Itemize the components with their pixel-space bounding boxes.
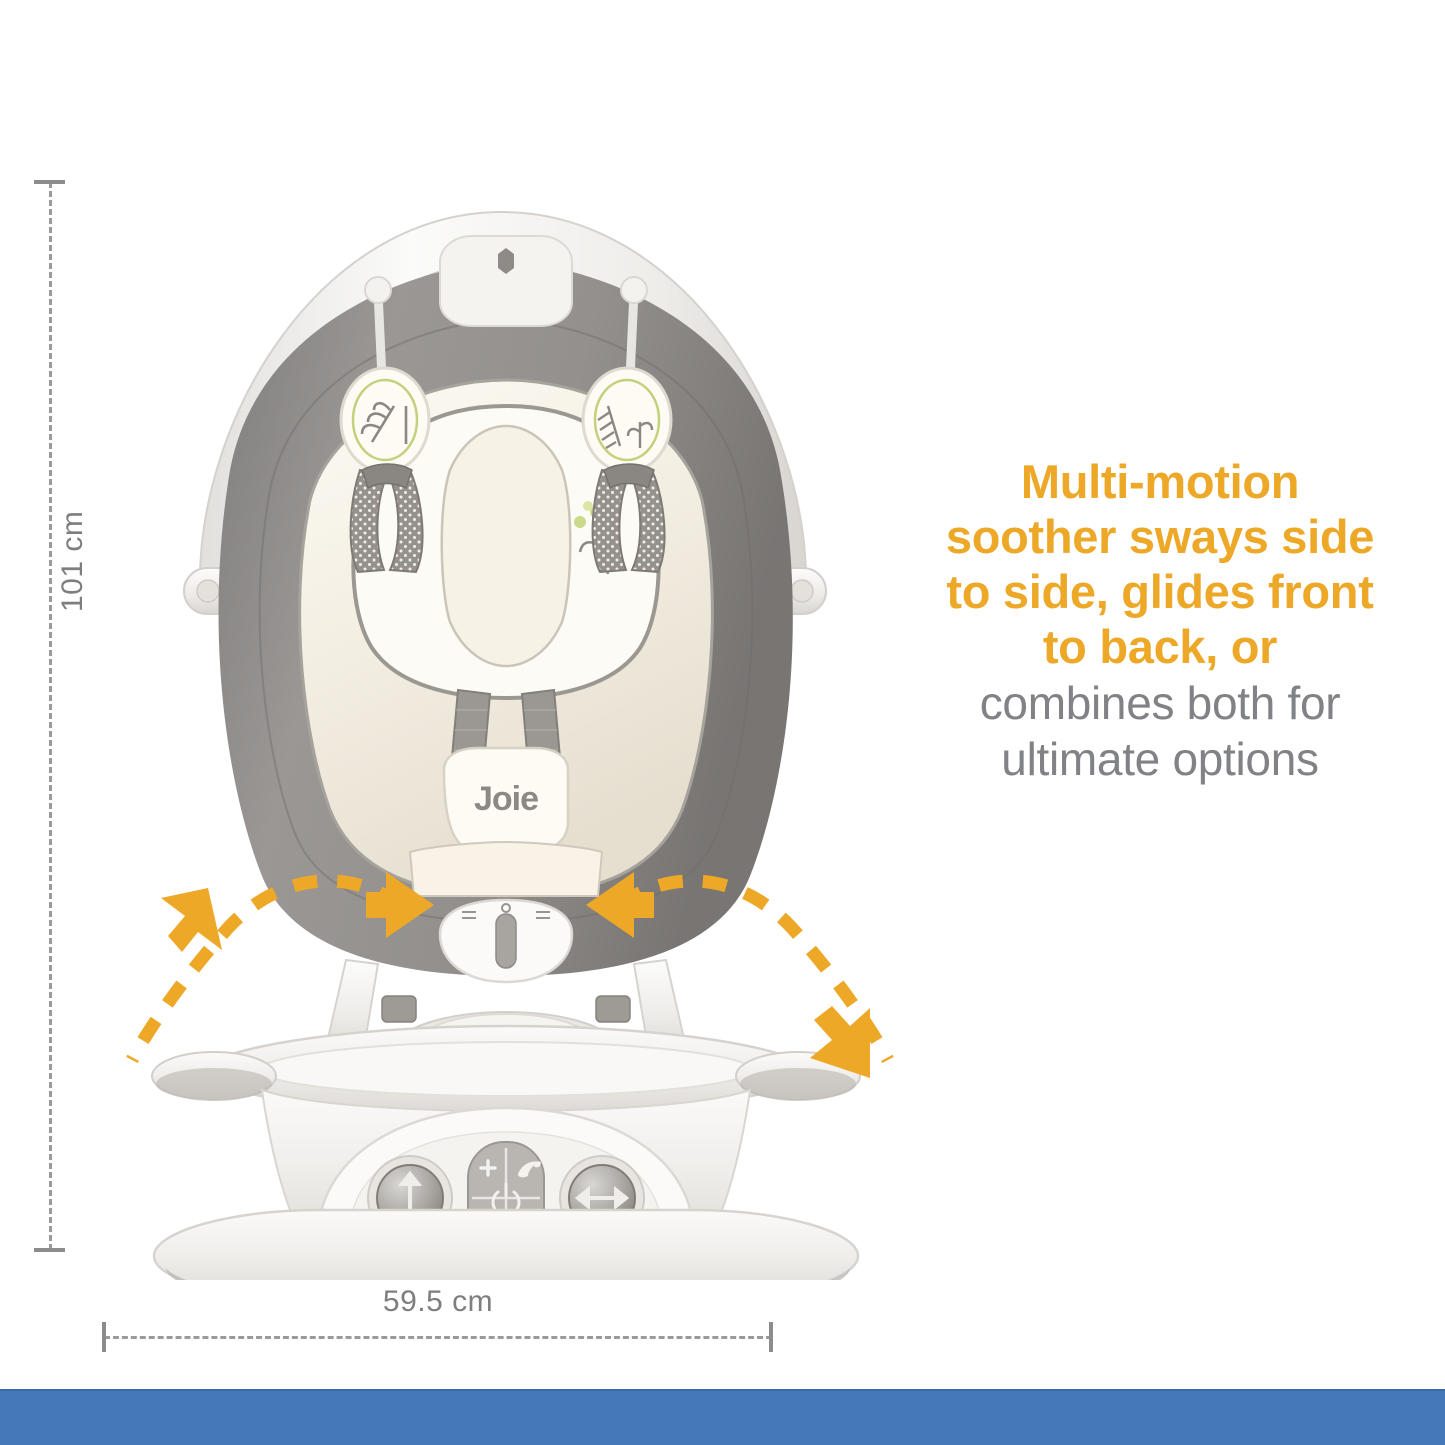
- crotch-pad: Joie: [444, 748, 568, 852]
- headline-line-1: Multi-motion: [886, 455, 1434, 510]
- seat-base-pad: [410, 842, 602, 896]
- subline-2: ultimate options: [886, 733, 1434, 787]
- headline-block: Multi-motion soother sways side to side,…: [886, 455, 1434, 787]
- seat-head-tab: [440, 236, 572, 326]
- seat-brand-logo: Joie: [474, 780, 538, 818]
- height-dimension-cap-bottom: [34, 1248, 65, 1252]
- headline-line-4: to back, or: [886, 620, 1434, 675]
- product-image: Joie: [110, 170, 900, 1280]
- width-dimension-label: 59.5 cm: [0, 1285, 876, 1319]
- base-runner: [154, 1210, 858, 1280]
- subline-1: combines both for: [886, 677, 1434, 731]
- recline-adjust-handle: [440, 900, 572, 982]
- width-dimension-cap-left: [102, 1322, 106, 1352]
- toy-clip-left: [365, 277, 391, 303]
- width-dimension-cap-right: [769, 1322, 773, 1352]
- base-upper-ring: [152, 1026, 860, 1114]
- height-dimension-cap-top: [34, 180, 65, 184]
- product-infographic: 101 cm 59.5 cm: [0, 0, 1445, 1445]
- height-dimension-line: [49, 182, 52, 1250]
- height-dimension-label: 101 cm: [56, 511, 90, 612]
- bottom-color-band: [0, 1389, 1445, 1445]
- headline-line-2: soother sways side: [886, 510, 1434, 565]
- headline-line-3: to side, glides front: [886, 565, 1434, 620]
- toy-clip-right: [621, 277, 647, 303]
- width-dimension-line: [104, 1336, 772, 1339]
